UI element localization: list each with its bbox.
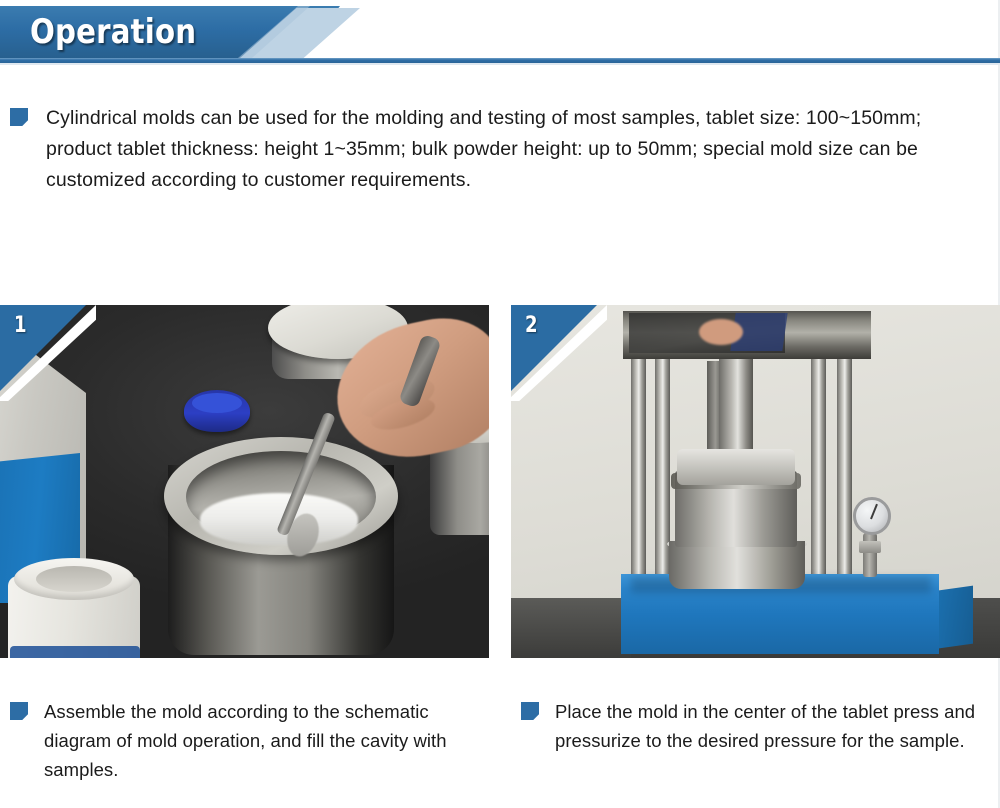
header-divider-highlight [0, 63, 1000, 65]
section-header: Operation [0, 6, 1000, 64]
intro-text: Cylindrical molds can be used for the mo… [46, 103, 980, 196]
operation-page: Operation Cylindrical molds can be used … [0, 0, 1000, 808]
step-photo-2[interactable]: 2 [511, 305, 1000, 658]
intro-block: Cylindrical molds can be used for the mo… [10, 103, 980, 196]
step-photo-row: 1 [0, 305, 1000, 658]
step-caption-1-text: Assemble the mold according to the schem… [44, 697, 489, 784]
step-photo-2-image [511, 305, 1000, 658]
square-bullet-icon [10, 702, 28, 720]
step-photo-1-image [0, 305, 489, 658]
square-bullet-icon [521, 702, 539, 720]
step-caption-2: Place the mold in the center of the tabl… [511, 697, 1000, 784]
step-photo-1[interactable]: 1 [0, 305, 489, 658]
square-bullet-icon [10, 108, 28, 126]
step-caption-2-text: Place the mold in the center of the tabl… [555, 697, 1000, 755]
page-title: Operation [30, 11, 196, 53]
step-caption-row: Assemble the mold according to the schem… [0, 697, 1000, 784]
step-caption-1: Assemble the mold according to the schem… [0, 697, 489, 784]
